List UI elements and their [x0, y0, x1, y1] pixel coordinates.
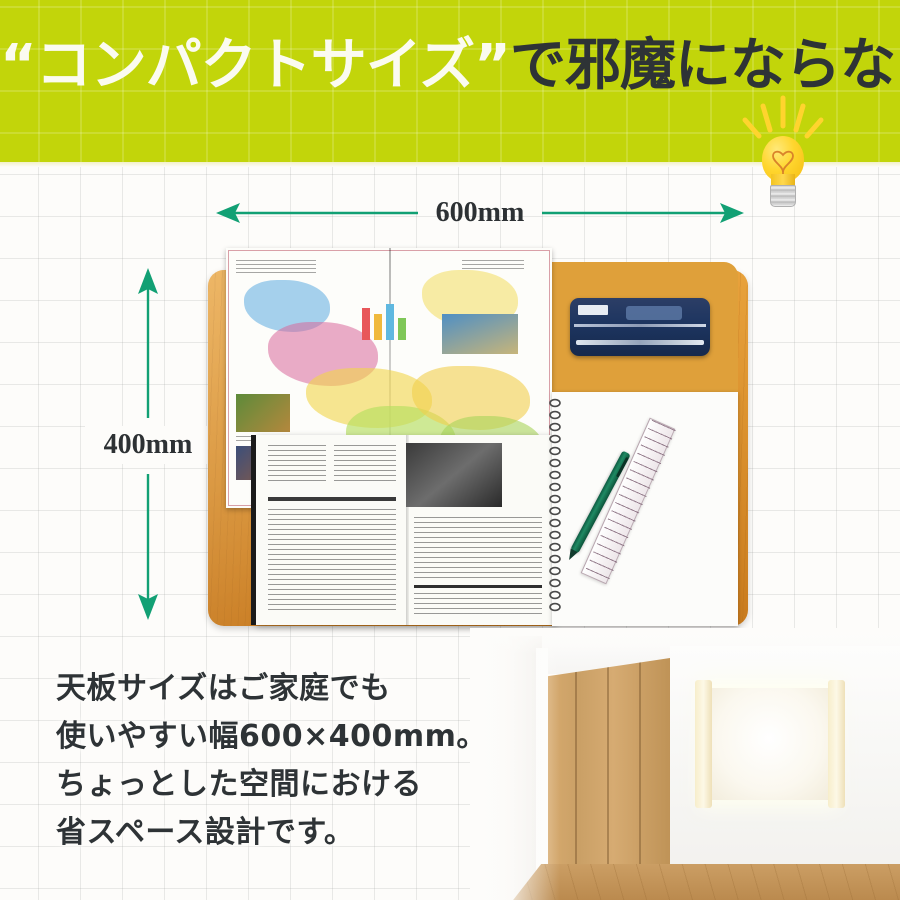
lightbulb-rays-icon — [733, 90, 833, 140]
room-photo-top-fade — [470, 628, 900, 654]
page-title-quoted: “コンパクトサイズ” — [0, 33, 510, 98]
pencil-case-stripe — [576, 340, 704, 345]
lightbulb-base — [770, 185, 796, 207]
room-wood-floor — [510, 864, 900, 900]
page-title: “コンパクトサイズ”で邪魔にならない — [0, 38, 900, 94]
atlas-bar — [374, 314, 382, 340]
page-title-rest: で邪魔にならない — [510, 33, 900, 98]
width-dimension-label: 600mm — [216, 198, 744, 228]
pencil-case — [570, 298, 710, 356]
atlas-bar — [398, 318, 406, 340]
pencil-case-logo — [626, 306, 682, 320]
closet-door-seam — [575, 658, 577, 893]
textbook-text-block — [268, 509, 396, 611]
window-curtain-left — [695, 680, 712, 808]
caption-line-2: 使いやすい幅600×400mm。 — [56, 713, 526, 761]
textbook-heading-bar — [268, 497, 396, 501]
spiral-binding-icon — [548, 396, 562, 622]
atlas-text-block — [462, 260, 524, 270]
atlas-text-block — [236, 260, 316, 276]
textbook-text-block — [414, 517, 542, 579]
textbook-photo — [406, 443, 502, 507]
caption-line-4: 省スペース設計です。 — [56, 809, 526, 857]
width-dimension-arrow: 600mm — [216, 198, 744, 228]
textbook-heading-bar — [414, 585, 542, 588]
textbook-left-edge — [251, 435, 256, 625]
height-dimension-label: 400mm — [85, 426, 211, 464]
heart-filament-icon — [769, 146, 797, 176]
caption-line-3: ちょっとした空間における — [56, 761, 526, 809]
lightbulb-heart-icon — [755, 128, 811, 218]
closet-doors — [544, 658, 670, 893]
atlas-bar — [362, 308, 370, 340]
caption-line-1: 天板サイズはご家庭でも — [56, 665, 526, 713]
desk-product-photo — [200, 240, 760, 632]
open-textbook — [256, 435, 556, 625]
textbook-text-block — [268, 445, 326, 485]
atlas-inset-photo — [236, 394, 290, 432]
height-dimension-arrow: 400mm — [133, 268, 163, 620]
textbook-text-block — [414, 593, 542, 617]
room-window — [708, 688, 830, 800]
room-interior-photo — [470, 628, 900, 900]
window-curtain-right — [828, 680, 845, 808]
atlas-inset-photo — [442, 314, 518, 354]
closet-door-seam — [639, 658, 641, 893]
description-caption: 天板サイズはご家庭でも 使いやすい幅600×400mm。 ちょっとした空間におけ… — [56, 665, 526, 857]
pencil-case-label — [578, 305, 608, 315]
atlas-bar — [386, 304, 394, 340]
textbook-text-block — [334, 445, 396, 485]
pencil-case-zipper — [574, 324, 706, 327]
closet-door-seam — [607, 658, 609, 893]
promo-banner-page: “コンパクトサイズ”で邪魔にならない 600mm — [0, 0, 900, 900]
